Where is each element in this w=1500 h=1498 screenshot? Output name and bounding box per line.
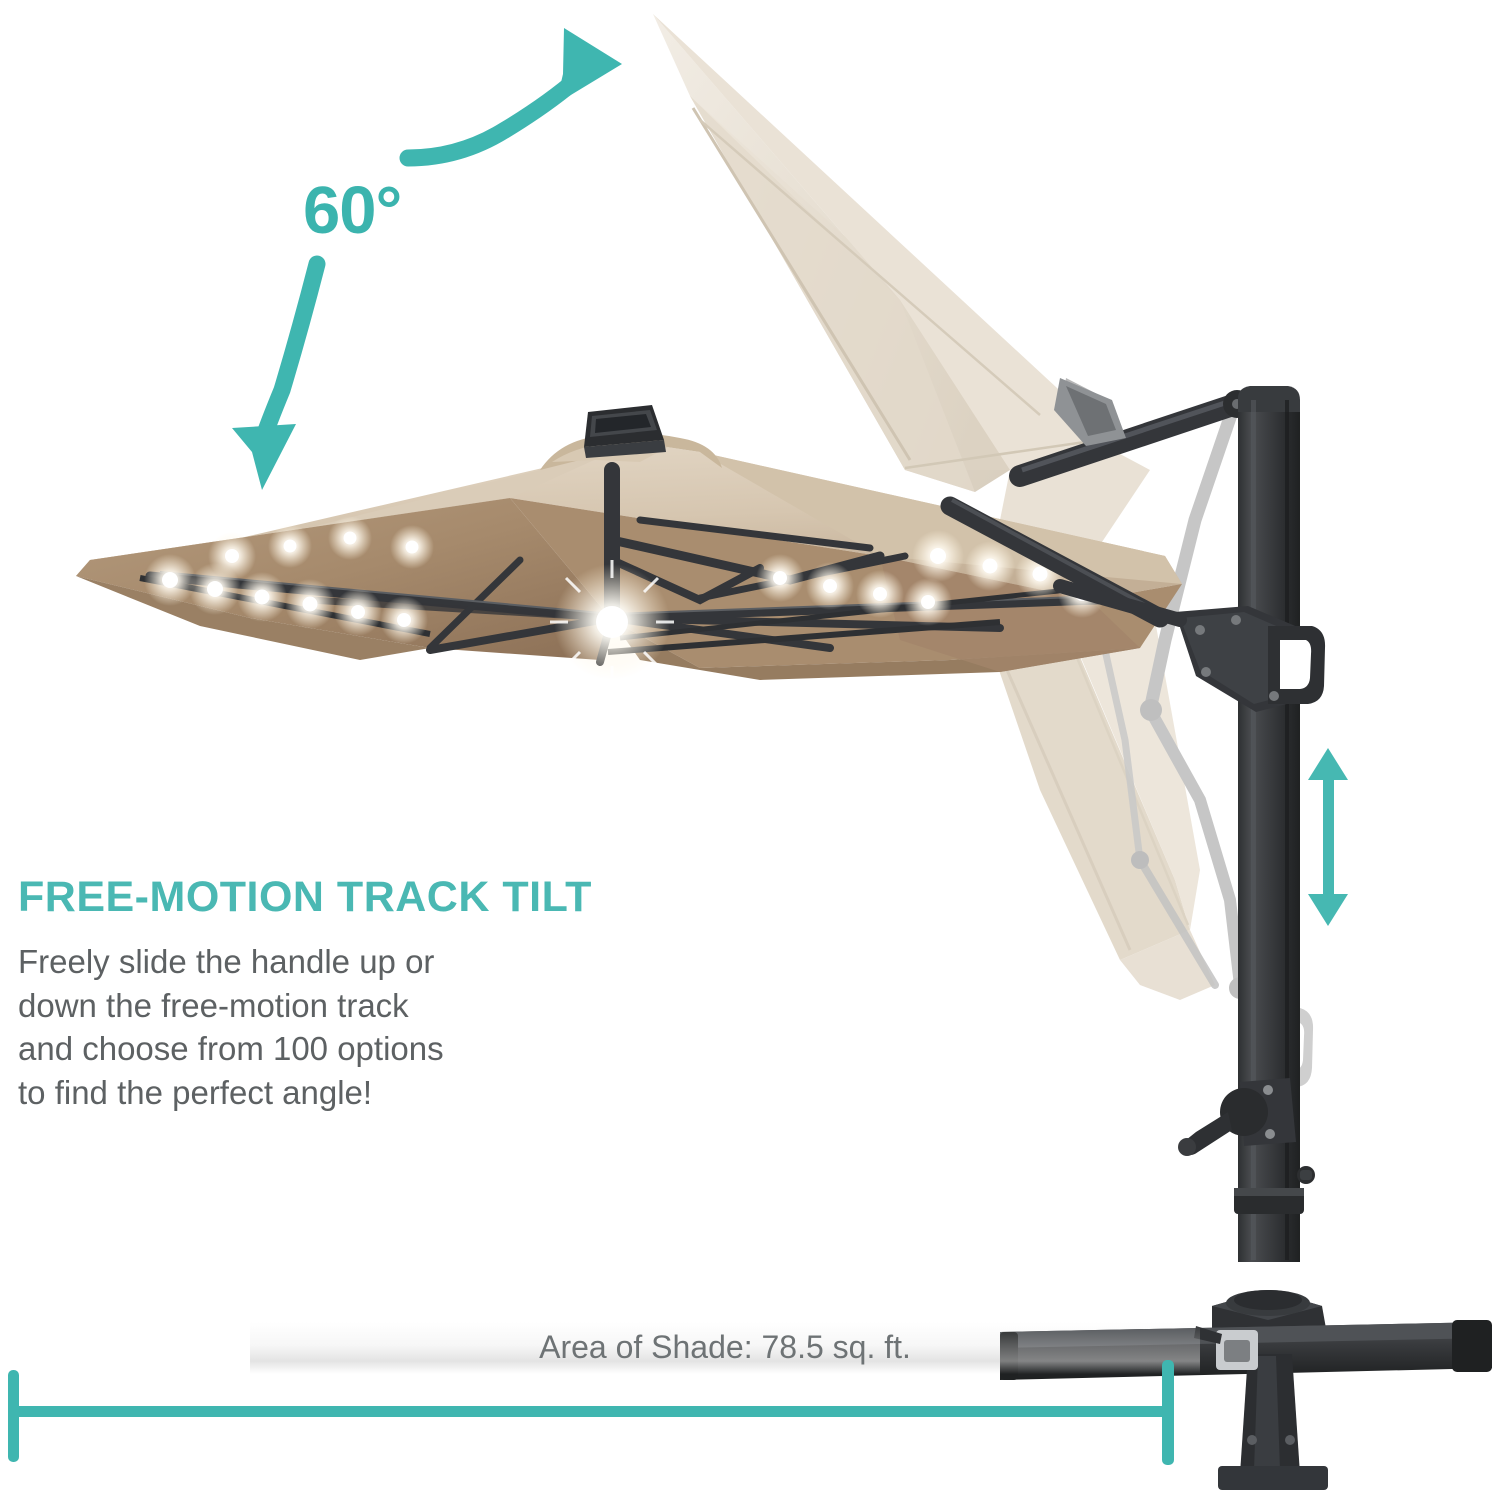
curved-arrow-up-right-icon [408, 28, 622, 158]
infographic-canvas: 60° FREE-MOTION TRACK TILT Freely slide … [0, 0, 1500, 1498]
area-of-shade-label: Area of Shade: 78.5 sq. ft. [250, 1329, 1200, 1366]
callout-headline: FREE-MOTION TRACK TILT [18, 873, 592, 922]
bracket-right-cap [1162, 1360, 1174, 1465]
bracket-left-cap [8, 1370, 19, 1462]
annotation-arrows [0, 0, 1500, 1498]
arrow-head-down [1308, 894, 1348, 926]
bracket-horizontal-line [8, 1406, 1173, 1417]
angle-label: 60° [303, 172, 401, 249]
callout-body: Freely slide the handle up or down the f… [18, 940, 638, 1114]
callout-body-line-3: and choose from 100 options [18, 1027, 638, 1071]
arrow-shaft [1323, 776, 1334, 898]
curved-arrow-down-icon [232, 264, 317, 490]
callout-body-line-2: down the free-motion track [18, 984, 638, 1028]
callout-body-line-1: Freely slide the handle up or [18, 940, 638, 984]
callout-body-line-4: to find the perfect angle! [18, 1071, 638, 1115]
double-headed-vertical-arrow-icon [1317, 748, 1339, 926]
